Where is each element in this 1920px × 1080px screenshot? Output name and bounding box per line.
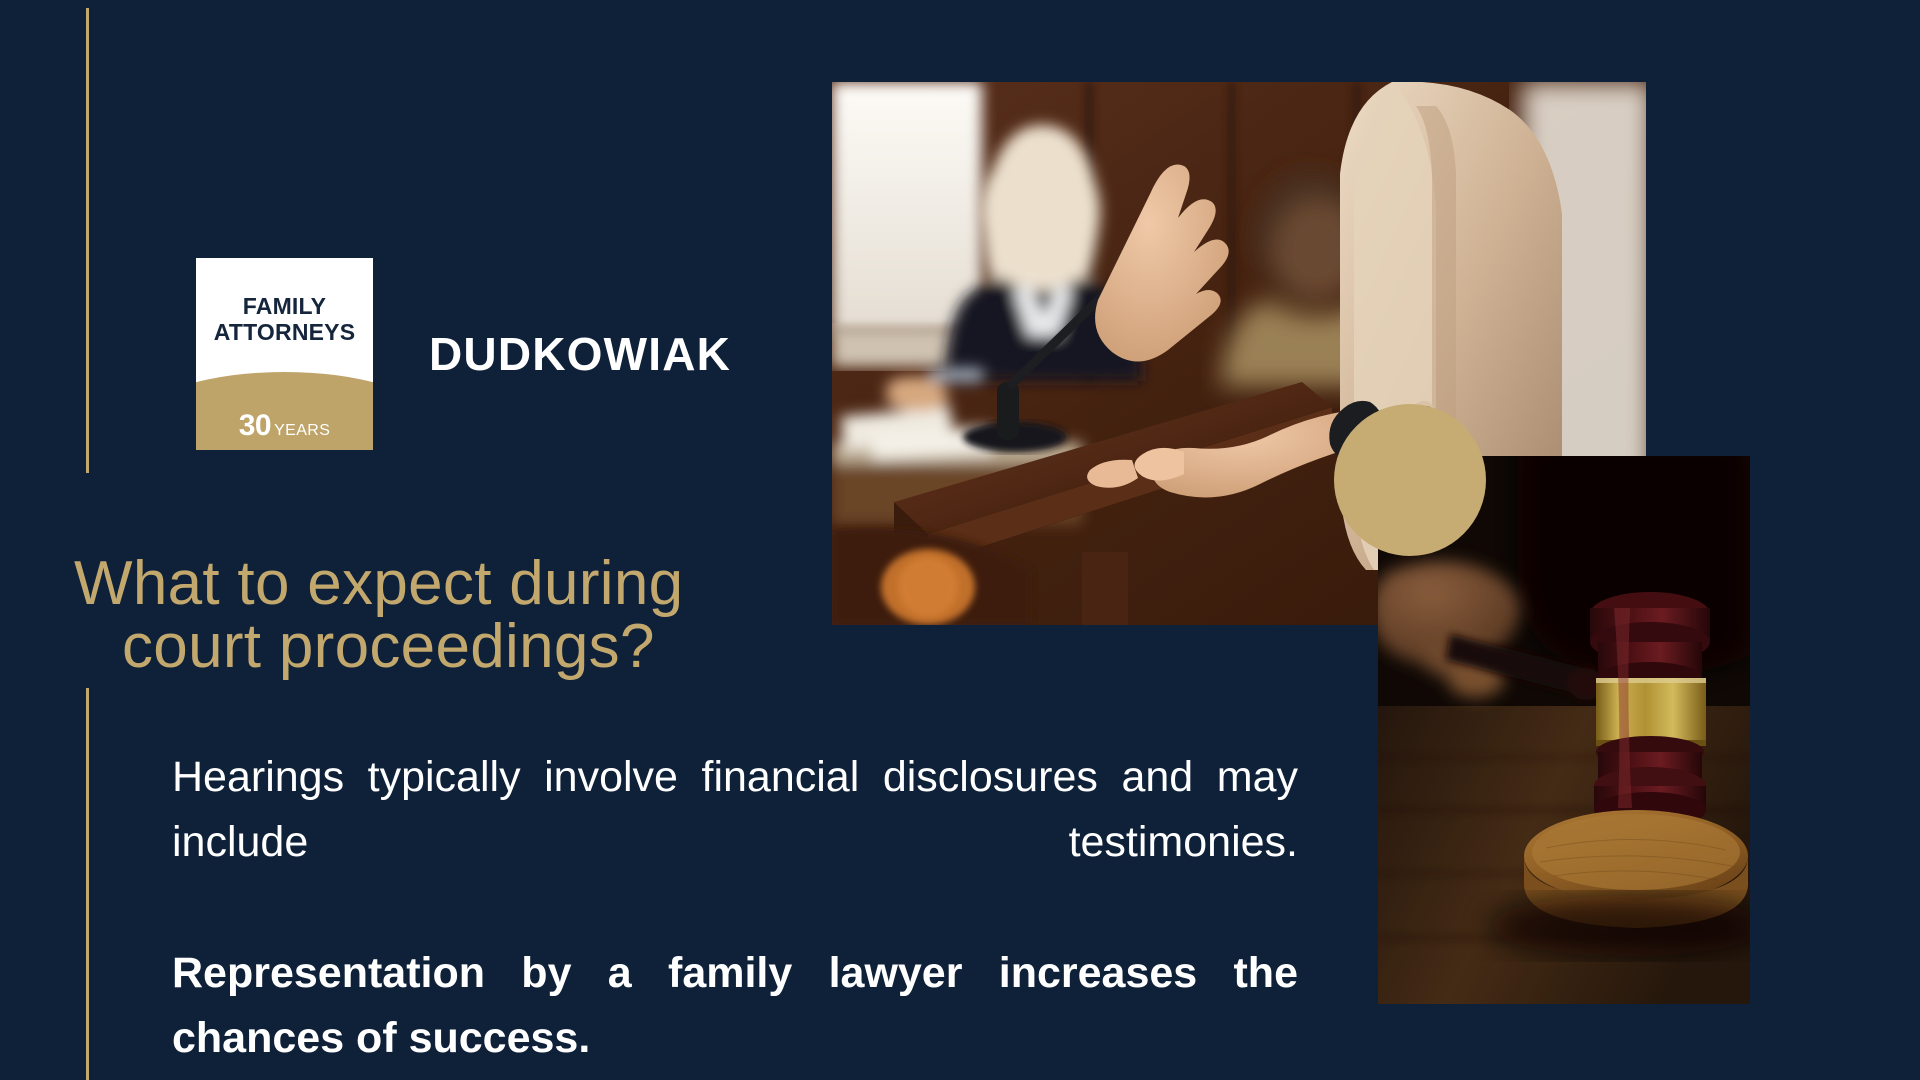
family-attorneys-logo: FAMILY ATTORNEYS 30YEARS	[196, 258, 373, 450]
body-paragraph-light: Hearings typically involve financial dis…	[172, 745, 1298, 941]
body-copy: Hearings typically involve financial dis…	[172, 745, 1298, 1072]
gold-rule-bottom	[86, 688, 89, 1080]
brand-name: DUDKOWIAK	[429, 327, 731, 381]
logo-years-unit: YEARS	[274, 422, 330, 439]
page-title: What to expect during court proceedings?	[74, 552, 864, 678]
slide-root: FAMILY ATTORNEYS 30YEARS DUDKOWIAK What …	[0, 0, 1920, 1080]
logo-wordmark: FAMILY ATTORNEYS	[196, 294, 373, 346]
logo-anniversary-badge: 30YEARS	[196, 411, 373, 441]
headline-line-2: court proceedings?	[74, 615, 864, 678]
gold-rule-top	[86, 8, 89, 473]
body-paragraph-bold: Representation by a family lawyer increa…	[172, 941, 1298, 1072]
logo-years-number: 30	[239, 409, 271, 442]
logo-line-1: FAMILY	[196, 294, 373, 320]
logo-line-2: ATTORNEYS	[196, 320, 373, 346]
brand-lockup: FAMILY ATTORNEYS 30YEARS DUDKOWIAK	[196, 258, 731, 450]
headline-line-1: What to expect during	[74, 549, 683, 618]
gold-accent-circle	[1334, 404, 1486, 556]
